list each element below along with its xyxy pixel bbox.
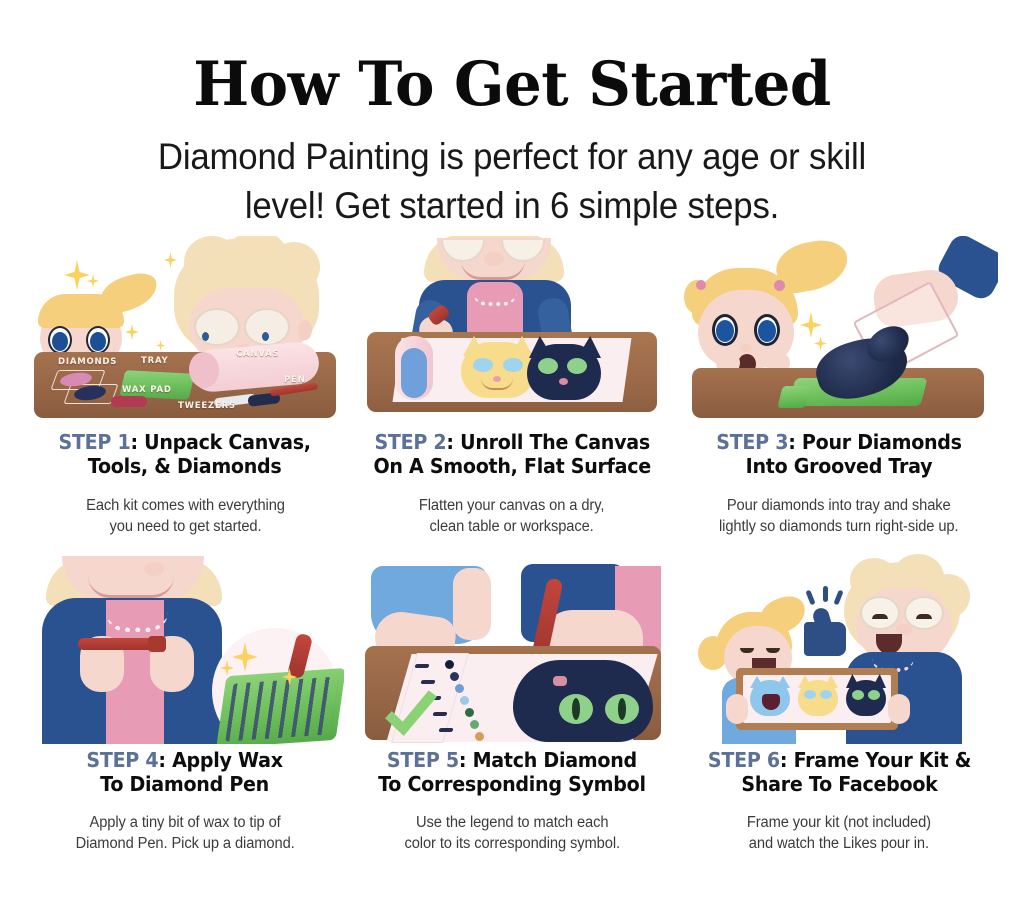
label-wax-pad: WAX PAD <box>122 385 172 395</box>
thumb-spark <box>823 586 828 602</box>
legend-dash <box>420 680 435 684</box>
legend-dash <box>438 728 453 732</box>
sparkle-icon <box>64 260 90 290</box>
label-tray: TRAY <box>141 356 168 366</box>
sparkle-icon <box>800 312 822 338</box>
step-1-separator: : <box>131 430 145 454</box>
step-2-desc-line-2: clean table or workspace. <box>419 516 605 538</box>
legend-color-dot <box>475 732 484 741</box>
step-4-title-part: Apply Wax <box>173 748 284 772</box>
canvas-roll-blue-back <box>401 348 427 398</box>
step-3-caption: STEP 3: Pour Diamonds Into Grooved Tray <box>716 431 962 479</box>
page-header: How To Get Started Diamond Painting is p… <box>0 0 1024 231</box>
grandma-eye-left <box>202 332 209 341</box>
step-5-separator: : <box>459 748 473 772</box>
cat-eye-black-left <box>852 690 864 700</box>
step-2-separator: : <box>446 430 460 454</box>
cat-pupil-left <box>572 698 580 720</box>
subtitle-line-2: level! Get started in 6 simple steps. <box>31 182 994 231</box>
cat-eye-yellow-right <box>820 690 832 699</box>
cat-eye-black-right <box>868 690 880 700</box>
girl-hand <box>726 694 748 724</box>
step-3-desc-line-1: Pour diamonds into tray and shake <box>719 495 959 517</box>
label-diamonds: DIAMONDS <box>58 357 117 367</box>
step-5-caption-line-2: To Corresponding Symbol <box>378 773 646 797</box>
step-card-6: STEP 6: Frame Your Kit & Share To Facebo… <box>680 554 998 855</box>
step-5-caption-line-1: STEP 5: Match Diamond <box>378 749 646 773</box>
sparkle-icon <box>87 274 99 288</box>
step-3-number: STEP 3 <box>716 430 788 454</box>
legend-color-dot <box>465 708 474 717</box>
grandma-eye-right <box>262 332 269 341</box>
step-1-number: STEP 1 <box>59 430 131 454</box>
infographic-page: How To Get Started Diamond Painting is p… <box>0 0 1024 923</box>
sparkle-icon <box>164 252 177 268</box>
grandma-ear <box>298 320 312 340</box>
grandma-glasses-right <box>904 596 944 630</box>
unpack-supplies-illustration: DIAMONDS TRAY WAX PAD TWEEZERS CANVAS PE… <box>26 236 344 426</box>
step-5-number: STEP 5 <box>387 748 459 772</box>
girl-iris-right <box>758 320 776 342</box>
legend-color-dot <box>455 684 464 693</box>
step-3-caption-line-2: Into Grooved Tray <box>716 455 962 479</box>
step-6-title-part: Frame Your Kit & <box>793 748 970 772</box>
legend-color-dot <box>450 672 459 681</box>
step-4-caption-line-2: To Diamond Pen <box>87 773 283 797</box>
pour-diamonds-illustration <box>680 236 998 426</box>
step-5-desc-line-2: color to its corresponding symbol. <box>404 833 619 855</box>
step-4-desc-line-1: Apply a tiny bit of wax to tip of <box>75 812 294 834</box>
cat-eye-yellow-right <box>503 358 523 372</box>
cat-nose-black <box>559 378 568 385</box>
girl-iris-left <box>716 320 734 342</box>
step-card-5: STEP 5: Match Diamond To Corresponding S… <box>353 554 671 855</box>
step-card-1: DIAMONDS TRAY WAX PAD TWEEZERS CANVAS PE… <box>26 236 344 538</box>
step-1-caption-line-2: Tools, & Diamonds <box>59 455 311 479</box>
step-3-desc-line-2: lightly so diamonds turn right-side up. <box>719 516 959 538</box>
step-card-4: STEP 4: Apply Wax To Diamond Pen Apply a… <box>26 554 344 855</box>
step-2-number: STEP 2 <box>374 430 446 454</box>
step-2-caption-line-1: STEP 2: Unroll The Canvas <box>373 431 650 455</box>
step-card-2: STEP 2: Unroll The Canvas On A Smooth, F… <box>353 236 671 538</box>
step-1-caption-line-1: STEP 1: Unpack Canvas, <box>59 431 311 455</box>
grandma-hand <box>888 694 910 724</box>
tray-grooves <box>225 676 339 741</box>
grandma-glasses-left <box>194 308 240 346</box>
step-2-description: Flatten your canvas on a dry, clean tabl… <box>419 495 605 538</box>
step-card-3: STEP 3: Pour Diamonds Into Grooved Tray … <box>680 236 998 538</box>
legend-color-dot <box>470 720 479 729</box>
step-5-title-part: Match Diamond <box>473 748 637 772</box>
hair-bead-left <box>696 280 706 290</box>
grandma-smile <box>461 260 525 280</box>
grandma-smile <box>88 576 174 598</box>
step-3-separator: : <box>788 430 802 454</box>
label-tweezers: TWEEZERS <box>178 401 236 411</box>
pen-tip <box>148 636 166 652</box>
step-6-separator: : <box>779 748 793 772</box>
steps-grid: DIAMONDS TRAY WAX PAD TWEEZERS CANVAS PE… <box>26 236 998 855</box>
step-2-caption: STEP 2: Unroll The Canvas On A Smooth, F… <box>373 431 650 479</box>
cat-eye-yellow-left <box>804 690 816 699</box>
unroll-canvas-illustration <box>353 236 671 426</box>
match-symbol-illustration <box>353 554 671 744</box>
step-2-caption-line-2: On A Smooth, Flat Surface <box>373 455 650 479</box>
tray-spout <box>777 386 810 408</box>
step-5-description: Use the legend to match each color to it… <box>404 812 619 855</box>
girl-nose <box>740 344 752 352</box>
girl-iris-left <box>52 332 68 351</box>
page-title: How To Get Started <box>15 54 1008 115</box>
label-canvas: CANVAS <box>236 349 279 359</box>
grandma-eye-left <box>872 614 888 619</box>
sparkle-icon <box>125 324 139 340</box>
step-3-description: Pour diamonds into tray and shake lightl… <box>719 495 959 538</box>
step-1-caption: STEP 1: Unpack Canvas, Tools, & Diamonds <box>59 431 311 479</box>
step-3-caption-line-1: STEP 3: Pour Diamonds <box>716 431 962 455</box>
legend-color-dot <box>460 696 469 705</box>
step-6-description: Frame your kit (not included) and watch … <box>747 812 931 855</box>
label-pen: PEN <box>284 375 306 385</box>
sparkle-icon <box>156 340 165 351</box>
apply-wax-illustration <box>26 554 344 744</box>
step-6-desc-line-1: Frame your kit (not included) <box>747 812 931 834</box>
step-2-title-part: Unroll The Canvas <box>460 430 650 454</box>
cat-nose-black <box>553 676 567 686</box>
subtitle-line-1: Diamond Painting is perfect for any age … <box>31 133 994 182</box>
frame-kit-illustration <box>680 554 998 744</box>
girl-hair <box>38 294 124 328</box>
legend-dash <box>432 712 447 716</box>
thumb-spark <box>833 590 843 606</box>
step-4-number: STEP 4 <box>87 748 159 772</box>
step-6-caption: STEP 6: Frame Your Kit & Share To Facebo… <box>707 749 970 797</box>
step-4-desc-line-2: Diamond Pen. Pick up a diamond. <box>75 833 294 855</box>
step-5-desc-line-1: Use the legend to match each <box>404 812 619 834</box>
page-subtitle: Diamond Painting is perfect for any age … <box>31 133 994 231</box>
step-6-desc-line-2: and watch the Likes pour in. <box>747 833 931 855</box>
grandma-eye-right <box>916 614 932 619</box>
step-4-separator: : <box>159 748 173 772</box>
cat-eye-black-right <box>567 358 587 374</box>
step-2-desc-line-1: Flatten your canvas on a dry, <box>419 495 605 517</box>
thumb-spark <box>805 590 815 606</box>
grandma-hair-puff <box>268 242 320 292</box>
girl-iris-right <box>90 332 106 351</box>
hair-bead-right <box>774 280 785 291</box>
step-4-description: Apply a tiny bit of wax to tip of Diamon… <box>75 812 294 855</box>
cat-pupil-right <box>618 698 626 720</box>
cat-eye-yellow-left <box>473 358 493 372</box>
sparkle-icon <box>814 336 827 351</box>
legend-dash <box>414 664 429 668</box>
step-6-caption-line-2: Share To Facebook <box>707 773 970 797</box>
step-6-number: STEP 6 <box>707 748 779 772</box>
grandma-nose <box>144 562 164 576</box>
grandma-glasses-left <box>860 596 900 630</box>
wax-pad <box>111 396 147 407</box>
step-1-title-part: Unpack Canvas, <box>145 430 312 454</box>
child-arm <box>453 568 491 640</box>
step-1-desc-line-2: you need to get started. <box>86 516 285 538</box>
cat-eye-black-left <box>538 358 558 374</box>
step-6-caption-line-1: STEP 6: Frame Your Kit & <box>707 749 970 773</box>
step-5-caption: STEP 5: Match Diamond To Corresponding S… <box>378 749 646 797</box>
legend-color-dot <box>445 660 454 669</box>
step-1-desc-line-1: Each kit comes with everything <box>86 495 285 517</box>
step-1-description: Each kit comes with everything you need … <box>86 495 285 538</box>
diamond-pen <box>78 638 156 650</box>
step-4-caption-line-1: STEP 4: Apply Wax <box>87 749 283 773</box>
step-4-caption: STEP 4: Apply Wax To Diamond Pen <box>87 749 283 797</box>
step-3-title-part: Pour Diamonds <box>802 430 962 454</box>
